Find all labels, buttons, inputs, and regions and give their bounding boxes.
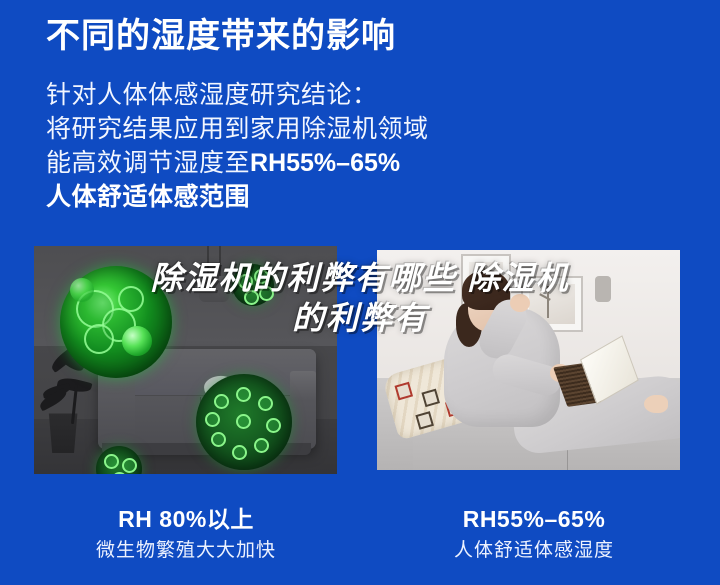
dark-room-scene — [34, 246, 337, 474]
intro-line-3: 能高效调节湿度至RH55%–65% — [46, 146, 486, 180]
poster-canvas: 不同的湿度带来的影响 针对人体体感湿度研究结论： 将研究结果应用到家用除湿机领域… — [0, 0, 720, 585]
humidity-range-value: RH55%–65% — [250, 149, 400, 177]
caption-right-subtitle: 人体舒适体感湿度 — [374, 538, 694, 564]
lamp-cord-icon — [207, 246, 209, 278]
intro-line-2: 将研究结果应用到家用除湿机领域 — [46, 112, 486, 146]
photo-panel-high-humidity — [34, 246, 337, 474]
microbe-small-top — [232, 264, 274, 306]
caption-left-subtitle: 微生物繁殖大大加快 — [26, 538, 346, 564]
microbe-cluster-large — [60, 266, 172, 378]
page-title: 不同的湿度带来的影响 — [46, 14, 396, 58]
photo-panel-comfort-humidity — [377, 250, 680, 470]
microbe-virus-large — [196, 374, 292, 470]
caption-comfort-humidity: RH55%–65% 人体舒适体感湿度 — [374, 504, 694, 564]
wall-art-twig — [547, 286, 549, 318]
caption-right-title: RH55%–65% — [374, 504, 694, 534]
wall-speaker — [595, 276, 611, 302]
intro-line-1: 针对人体体感湿度研究结论： — [46, 78, 486, 112]
light-room-scene — [377, 250, 680, 470]
caption-left-title: RH 80%以上 — [26, 504, 346, 534]
lamp-shade-icon — [199, 276, 229, 302]
person-foot — [644, 395, 668, 413]
intro-text-block: 针对人体体感湿度研究结论： 将研究结果应用到家用除湿机领域 能高效调节湿度至RH… — [46, 78, 486, 214]
caption-high-humidity: RH 80%以上 微生物繁殖大大加快 — [26, 504, 346, 564]
intro-line-4: 人体舒适体感范围 — [46, 180, 486, 214]
side-table — [290, 371, 316, 401]
intro-line-3-prefix: 能高效调节湿度至 — [46, 149, 250, 177]
